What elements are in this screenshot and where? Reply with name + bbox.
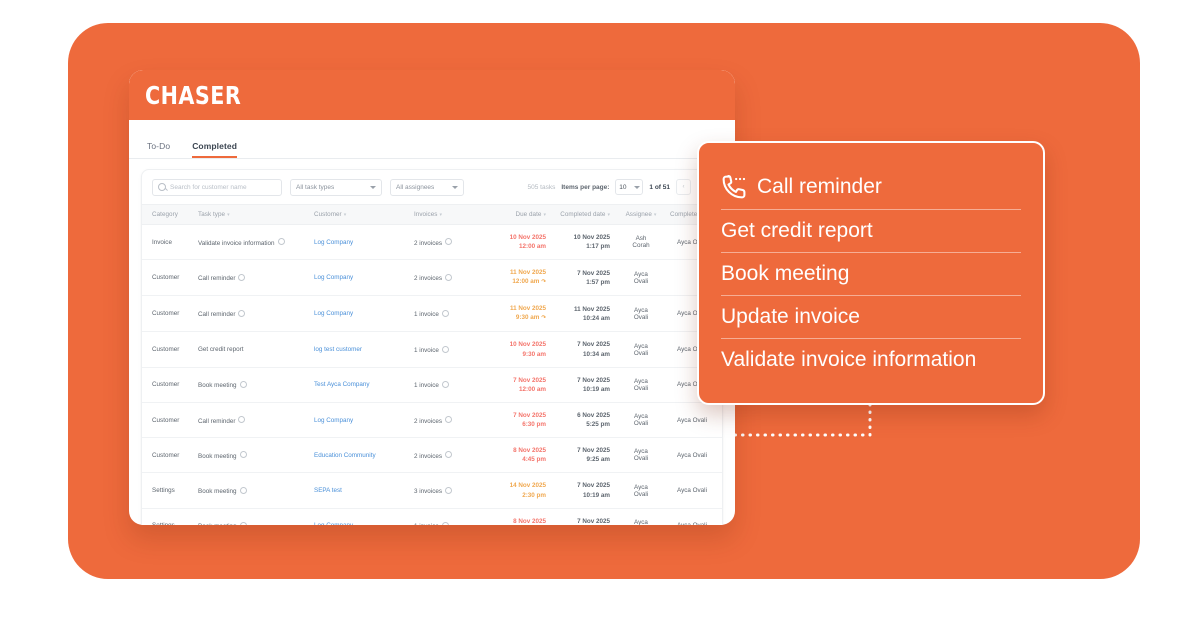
- cell-category: Settings: [142, 473, 198, 508]
- cell-completed-by: Ayca Ovali: [666, 473, 718, 508]
- customer-link[interactable]: Log Company: [314, 417, 353, 424]
- column-header-completed-date[interactable]: Completed date▾: [546, 205, 616, 225]
- info-icon: [442, 346, 449, 353]
- due-date-value: 11 Nov 2025: [480, 304, 546, 313]
- completed-time-value: 10:19 am: [546, 385, 610, 394]
- due-time-value: 12:00 am: [480, 242, 546, 251]
- info-icon: [240, 381, 247, 388]
- completed-time-value: 1:57 pm: [546, 278, 610, 287]
- cell-completed-by: Ayca Ovali: [666, 508, 718, 525]
- customer-link[interactable]: log test customer: [314, 346, 362, 353]
- cell-assignee: AycaOvali: [616, 367, 666, 402]
- cell-due-date: 7 Nov 20256:30 pm: [480, 402, 546, 437]
- info-icon: [442, 522, 449, 525]
- chevron-down-icon: [370, 186, 376, 189]
- sort-icon: ▾: [654, 212, 657, 218]
- due-date-value: 10 Nov 2025: [480, 233, 546, 242]
- due-date-value: 7 Nov 2025: [480, 376, 546, 385]
- filter-assignees-select[interactable]: All assignees: [390, 179, 464, 196]
- due-time-value: 6:30 pm: [480, 420, 546, 429]
- app-window: CHASER To-Do Completed Search for custom…: [129, 70, 735, 525]
- completed-time-value: 1:17 pm: [546, 242, 610, 251]
- cell-category: Customer: [142, 260, 198, 296]
- info-icon: [238, 274, 245, 281]
- info-icon: [238, 416, 245, 423]
- table-row[interactable]: InvoiceValidate invoice informationLog C…: [142, 225, 723, 260]
- sort-icon: ▾: [440, 212, 443, 218]
- overlay-item-validate-invoice-information[interactable]: Validate invoice information: [721, 339, 1021, 381]
- cell-actions[interactable]: [718, 402, 723, 437]
- completed-time-value: 10:34 am: [546, 350, 610, 359]
- cell-completed-date: 7 Nov 20259:25 am: [546, 438, 616, 473]
- cell-customer[interactable]: SEPA test: [314, 473, 414, 508]
- cell-invoices: 2 invoices: [414, 225, 480, 260]
- completed-date-value: 10 Nov 2025: [546, 233, 610, 242]
- column-header-category: Category: [142, 205, 198, 225]
- filter-assignees-label: All assignees: [396, 184, 434, 191]
- cell-invoices: 2 invoices: [414, 438, 480, 473]
- overlay-item-get-credit-report[interactable]: Get credit report: [721, 210, 1021, 253]
- overlay-item-label: Book meeting: [721, 262, 849, 286]
- customer-link[interactable]: Log Company: [314, 522, 353, 525]
- cell-completed-date: 7 Nov 202510:19 am: [546, 473, 616, 508]
- due-date-value: 14 Nov 2025: [480, 481, 546, 490]
- cell-due-date: 10 Nov 202512:00 am: [480, 225, 546, 260]
- info-icon: [445, 274, 452, 281]
- due-time-value: 12:00 am: [480, 385, 546, 394]
- cell-task-type: Book meeting: [198, 473, 314, 508]
- cell-actions[interactable]: [718, 438, 723, 473]
- brand-logo: CHASER: [145, 81, 241, 110]
- cell-task-type: Call reminder: [198, 260, 314, 296]
- items-per-page-value: 10: [619, 184, 626, 191]
- due-time-value: 2:30 pm: [480, 491, 546, 500]
- due-time-value: 9:30 am↷: [480, 313, 546, 323]
- due-time-value: 12:00 am↷: [480, 277, 546, 287]
- table-row[interactable]: CustomerGet credit reportlog test custom…: [142, 332, 723, 367]
- cell-completed-date: 7 Nov 202510:18 am: [546, 508, 616, 525]
- overlay-item-call-reminder[interactable]: Call reminder: [721, 165, 1021, 210]
- tasks-table: Category Task type▾ Customer▾ Invoices▾ …: [142, 204, 723, 525]
- tasks-table-body: InvoiceValidate invoice informationLog C…: [142, 225, 723, 526]
- filter-task-types-label: All task types: [296, 184, 334, 191]
- overlay-item-label: Update invoice: [721, 305, 860, 329]
- completed-date-value: 7 Nov 2025: [546, 340, 610, 349]
- cell-assignee: AycaOvali: [616, 438, 666, 473]
- cell-assignee: AycaOvali: [616, 508, 666, 525]
- table-row[interactable]: CustomerBook meetingTest Ayca Company1 i…: [142, 367, 723, 402]
- info-icon: [278, 238, 285, 245]
- cell-customer[interactable]: Education Community: [314, 438, 414, 473]
- due-time-value: 4:45 pm: [480, 455, 546, 464]
- cell-customer[interactable]: Log Company: [314, 260, 414, 296]
- customer-link[interactable]: Log Company: [314, 310, 353, 317]
- task-count: 505 tasks: [528, 184, 556, 191]
- app-header: CHASER: [129, 70, 735, 120]
- cell-completed-date: 7 Nov 202510:19 am: [546, 367, 616, 402]
- cell-assignee: AshCorah: [616, 225, 666, 260]
- cell-assignee: AycaOvali: [616, 296, 666, 332]
- info-icon: [240, 487, 247, 494]
- sort-icon: ▾: [344, 212, 347, 218]
- customer-link[interactable]: Education Community: [314, 452, 376, 459]
- cell-assignee: AycaOvali: [616, 260, 666, 296]
- due-date-value: 11 Nov 2025: [480, 268, 546, 277]
- search-placeholder: Search for customer name: [170, 184, 247, 191]
- cell-due-date: 10 Nov 20259:30 am: [480, 332, 546, 367]
- completed-time-value: 9:25 am: [546, 455, 610, 464]
- completed-date-value: 7 Nov 2025: [546, 446, 610, 455]
- cell-actions[interactable]: [718, 473, 723, 508]
- cell-category: Settings: [142, 508, 198, 525]
- cell-due-date: 14 Nov 20252:30 pm: [480, 473, 546, 508]
- recurring-icon: ↷: [541, 279, 546, 285]
- cell-task-type: Book meeting: [198, 438, 314, 473]
- cell-category: Invoice: [142, 225, 198, 260]
- info-icon: [442, 381, 449, 388]
- cell-assignee: AycaOvali: [616, 332, 666, 367]
- column-header-assignee[interactable]: Assignee▾: [616, 205, 666, 225]
- column-header-invoices[interactable]: Invoices▾: [414, 205, 480, 225]
- sort-icon: ▾: [607, 212, 610, 218]
- cell-task-type: Call reminder: [198, 296, 314, 332]
- cell-assignee: AycaOvali: [616, 473, 666, 508]
- table-row[interactable]: CustomerCall reminderLog Company2 invoic…: [142, 260, 723, 296]
- due-time-value: 9:30 am: [480, 350, 546, 359]
- info-icon: [240, 522, 247, 525]
- completed-time-value: 10:24 am: [546, 314, 610, 323]
- cell-category: Customer: [142, 438, 198, 473]
- cell-category: Customer: [142, 402, 198, 437]
- info-icon: [442, 310, 449, 317]
- cell-completed-date: 11 Nov 202510:24 am: [546, 296, 616, 332]
- cell-invoices: 1 invoice: [414, 296, 480, 332]
- table-row[interactable]: CustomerCall reminderLog Company2 invoic…: [142, 402, 723, 437]
- due-date-value: 10 Nov 2025: [480, 340, 546, 349]
- table-row[interactable]: CustomerBook meetingEducation Community2…: [142, 438, 723, 473]
- cell-completed-by: Ayca Ovali: [666, 402, 718, 437]
- pagination-controls: 505 tasks Items per page: 10 1 of 51 ‹ ›: [528, 179, 712, 195]
- cell-task-type: Validate invoice information: [198, 225, 314, 260]
- tab-bar: To-Do Completed: [129, 120, 735, 159]
- cell-due-date: 8 Nov 20256:30 pm: [480, 508, 546, 525]
- table-row[interactable]: SettingsBook meetingSEPA test3 invoices1…: [142, 473, 723, 508]
- items-per-page-label: Items per page:: [561, 184, 609, 191]
- overlay-item-book-meeting[interactable]: Book meeting: [721, 253, 1021, 296]
- table-header-row: Category Task type▾ Customer▾ Invoices▾ …: [142, 205, 723, 225]
- cell-completed-date: 10 Nov 20251:17 pm: [546, 225, 616, 260]
- cell-assignee: AycaOvali: [616, 402, 666, 437]
- recurring-icon: ↷: [541, 315, 546, 321]
- customer-link[interactable]: Log Company: [314, 274, 353, 281]
- cell-invoices: 2 invoices: [414, 260, 480, 296]
- overlay-item-label: Get credit report: [721, 219, 873, 243]
- chevron-down-icon: [452, 186, 458, 189]
- filter-task-types-select[interactable]: All task types: [290, 179, 382, 196]
- cell-task-type: Book meeting: [198, 508, 314, 525]
- chevron-down-icon: [634, 186, 640, 189]
- customer-link[interactable]: Test Ayca Company: [314, 381, 370, 388]
- due-date-value: 7 Nov 2025: [480, 411, 546, 420]
- sort-icon: ▾: [543, 212, 546, 218]
- cell-customer[interactable]: Log Company: [314, 225, 414, 260]
- items-per-page-select[interactable]: 10: [615, 179, 643, 195]
- tasks-table-head: Category Task type▾ Customer▾ Invoices▾ …: [142, 205, 723, 225]
- cell-customer[interactable]: Log Company: [314, 508, 414, 525]
- cell-due-date: 11 Nov 202512:00 am↷: [480, 260, 546, 296]
- info-icon: [445, 416, 452, 423]
- cell-customer[interactable]: Log Company: [314, 402, 414, 437]
- completed-date-value: 7 Nov 2025: [546, 481, 610, 490]
- cell-task-type: Get credit report: [198, 332, 314, 367]
- due-date-value: 8 Nov 2025: [480, 517, 546, 525]
- phone-call-icon: [721, 174, 747, 200]
- info-icon: [445, 238, 452, 245]
- cell-due-date: 8 Nov 20254:45 pm: [480, 438, 546, 473]
- column-header-task-type[interactable]: Task type▾: [198, 205, 314, 225]
- info-icon: [445, 487, 452, 494]
- info-icon: [445, 451, 452, 458]
- cell-task-type: Book meeting: [198, 367, 314, 402]
- completed-date-value: 11 Nov 2025: [546, 305, 610, 314]
- cell-task-type: Call reminder: [198, 402, 314, 437]
- table-card: Search for customer name All task types …: [141, 169, 723, 525]
- column-header-customer[interactable]: Customer▾: [314, 205, 414, 225]
- cell-actions[interactable]: [718, 508, 723, 525]
- cell-customer[interactable]: Log Company: [314, 296, 414, 332]
- completed-time-value: 10:19 am: [546, 491, 610, 500]
- tab-to-do[interactable]: To-Do: [147, 141, 170, 158]
- completed-date-value: 7 Nov 2025: [546, 269, 610, 278]
- cell-completed-date: 6 Nov 20255:25 pm: [546, 402, 616, 437]
- prev-page-button[interactable]: ‹: [676, 179, 691, 195]
- cell-completed-date: 7 Nov 20251:57 pm: [546, 260, 616, 296]
- task-type-overlay-card: Call reminder Get credit report Book mee…: [697, 141, 1045, 405]
- overlay-item-label: Call reminder: [757, 175, 882, 199]
- cell-invoices: 1 invoice: [414, 508, 480, 525]
- table-row[interactable]: CustomerCall reminderLog Company1 invoic…: [142, 296, 723, 332]
- search-icon: [158, 183, 166, 191]
- completed-time-value: 5:25 pm: [546, 420, 610, 429]
- cell-category: Customer: [142, 296, 198, 332]
- completed-date-value: 7 Nov 2025: [546, 376, 610, 385]
- cell-due-date: 7 Nov 202512:00 am: [480, 367, 546, 402]
- cell-due-date: 11 Nov 20259:30 am↷: [480, 296, 546, 332]
- completed-date-value: 7 Nov 2025: [546, 517, 610, 525]
- cell-completed-date: 7 Nov 202510:34 am: [546, 332, 616, 367]
- cell-customer[interactable]: log test customer: [314, 332, 414, 367]
- cell-invoices: 2 invoices: [414, 402, 480, 437]
- tab-completed[interactable]: Completed: [192, 141, 237, 158]
- info-icon: [240, 451, 247, 458]
- toolbar: Search for customer name All task types …: [142, 170, 722, 204]
- overlay-item-update-invoice[interactable]: Update invoice: [721, 296, 1021, 339]
- sort-icon: ▾: [227, 212, 230, 218]
- column-header-due-date[interactable]: Due date▾: [480, 205, 546, 225]
- cell-category: Customer: [142, 332, 198, 367]
- cell-invoices: 1 invoice: [414, 332, 480, 367]
- cell-invoices: 1 invoice: [414, 367, 480, 402]
- table-row[interactable]: SettingsBook meetingLog Company1 invoice…: [142, 508, 723, 525]
- customer-link[interactable]: Log Company: [314, 239, 353, 246]
- page-indicator: 1 of 51: [649, 184, 670, 191]
- search-input[interactable]: Search for customer name: [152, 179, 282, 196]
- customer-link[interactable]: SEPA test: [314, 487, 342, 494]
- info-icon: [238, 310, 245, 317]
- cell-category: Customer: [142, 367, 198, 402]
- due-date-value: 8 Nov 2025: [480, 446, 546, 455]
- overlay-item-label: Validate invoice information: [721, 348, 976, 372]
- completed-date-value: 6 Nov 2025: [546, 411, 610, 420]
- cell-completed-by: Ayca Ovali: [666, 438, 718, 473]
- cell-invoices: 3 invoices: [414, 473, 480, 508]
- cell-customer[interactable]: Test Ayca Company: [314, 367, 414, 402]
